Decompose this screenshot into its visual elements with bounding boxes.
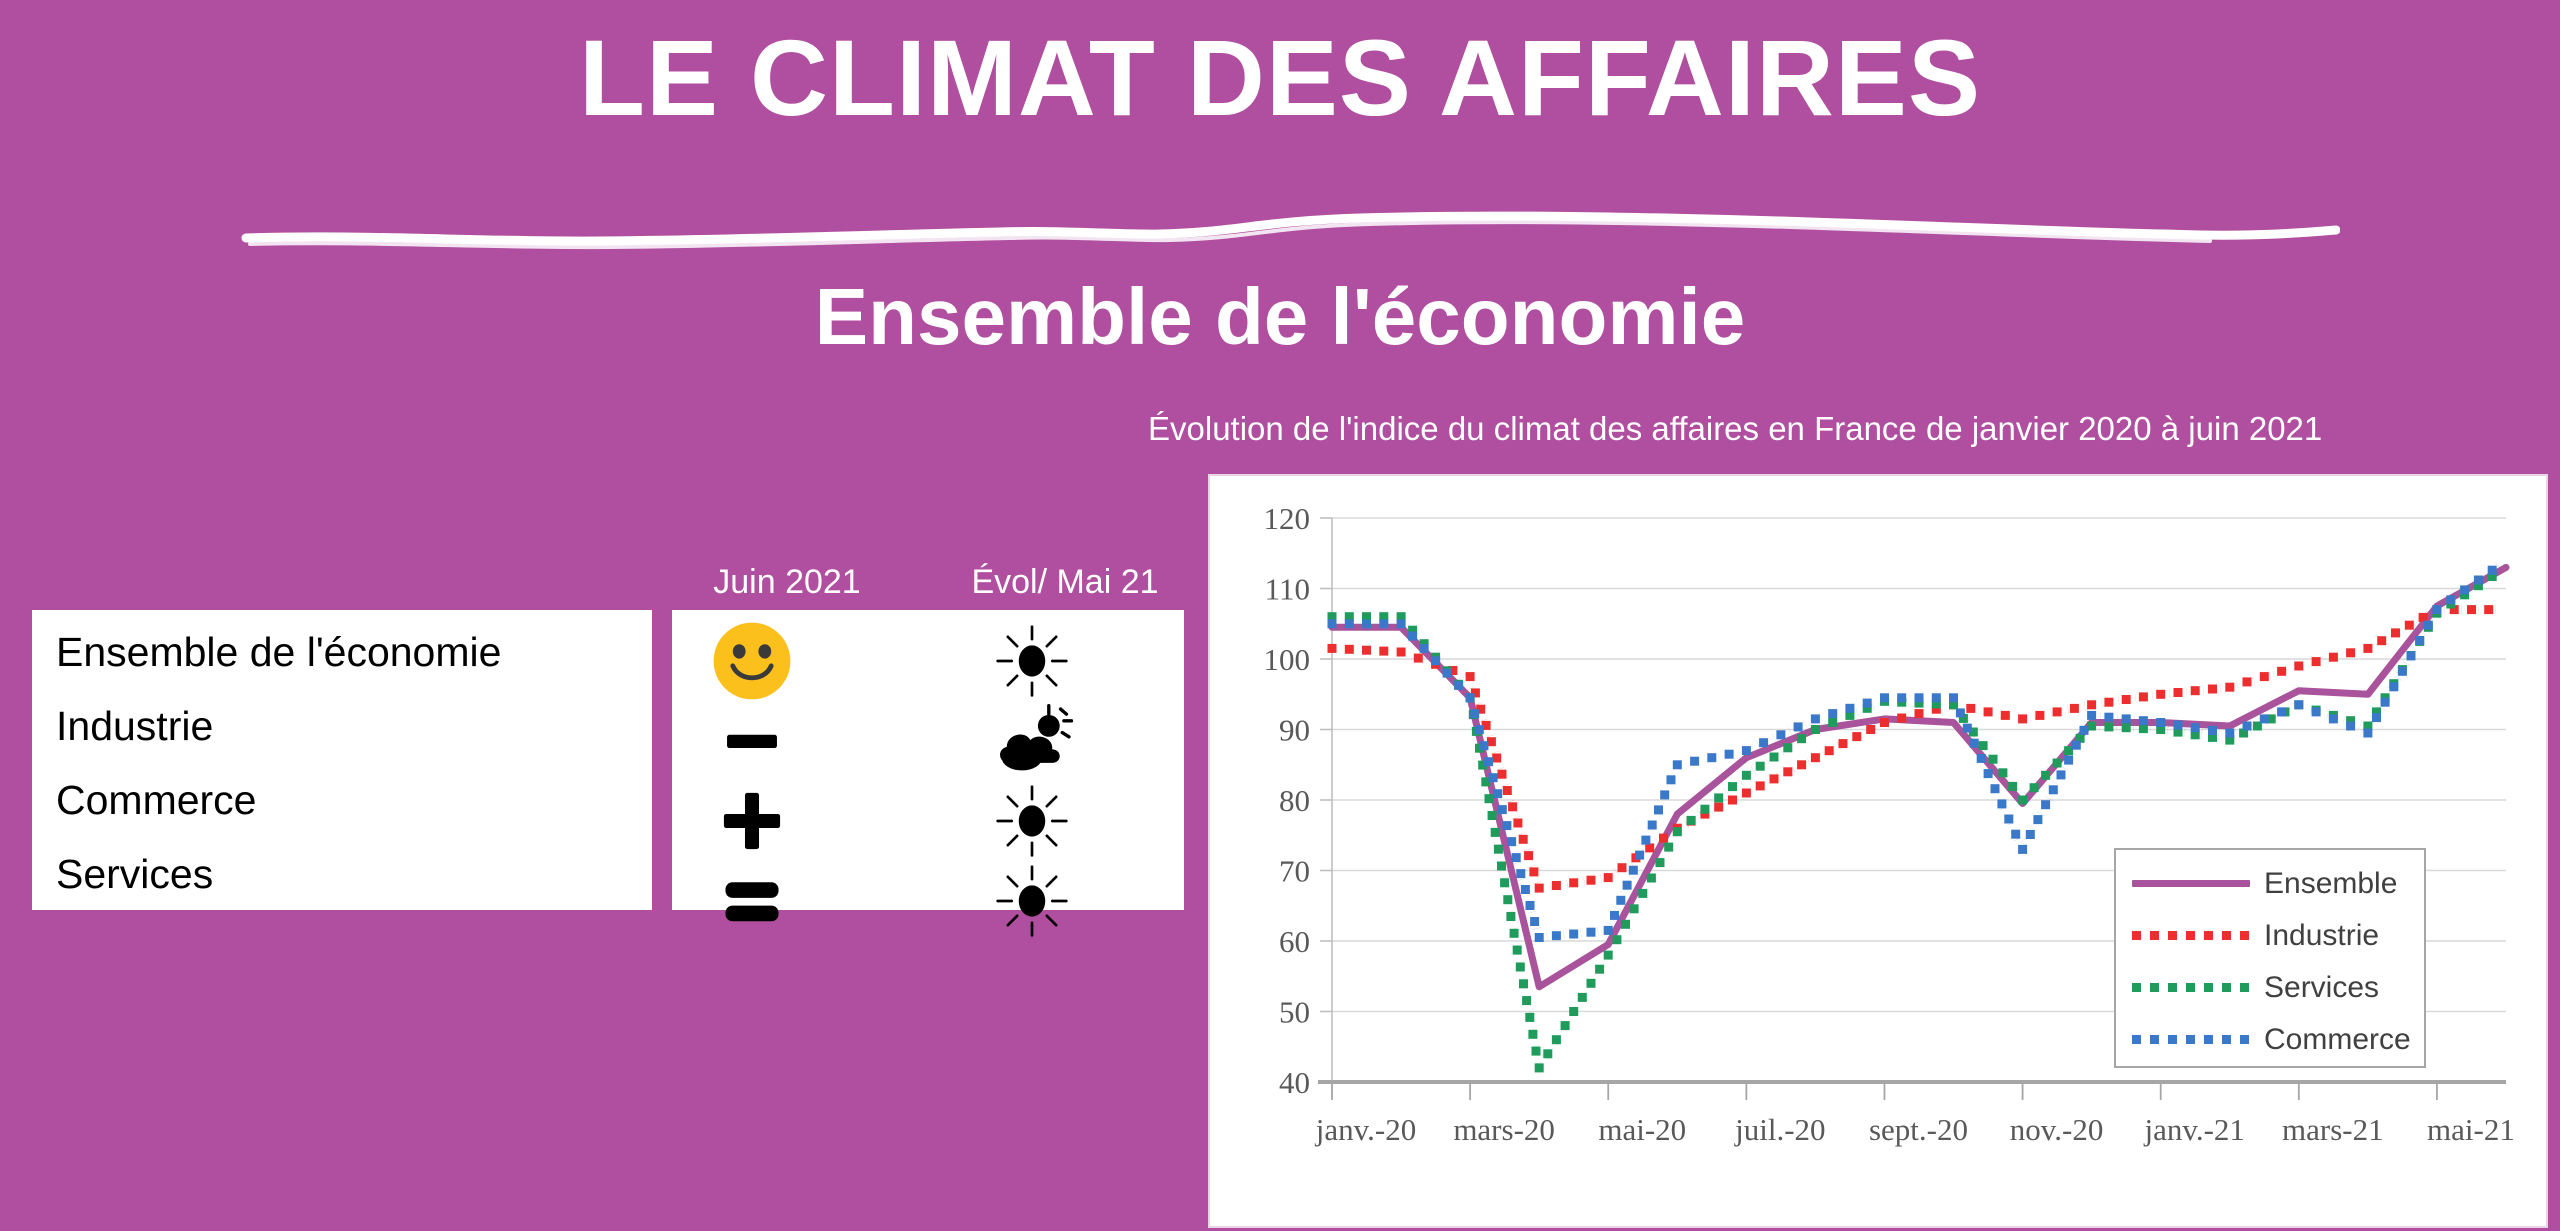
svg-text:juil.-20: juil.-20 (1734, 1112, 1825, 1147)
svg-text:janv.-20: janv.-20 (1315, 1112, 1416, 1147)
svg-text:nov.-20: nov.-20 (2010, 1112, 2104, 1147)
legend-item-ensemble: Ensemble (2116, 856, 2428, 911)
svg-text:90: 90 (1279, 713, 1310, 748)
svg-text:janv.-21: janv.-21 (2143, 1112, 2244, 1147)
page-subtitle: Ensemble de l'économie (0, 262, 2560, 372)
smiley-face-icon (692, 618, 812, 704)
legend-swatch-commerce (2132, 1035, 2250, 1044)
svg-text:mai-20: mai-20 (1598, 1112, 1686, 1147)
minus-icon (692, 698, 812, 784)
sun-behind-cloud-icon (972, 698, 1092, 784)
legend-label: Services (2264, 973, 2379, 1003)
svg-text:100: 100 (1264, 642, 1311, 677)
legend-item-commerce: Commerce (2116, 1012, 2428, 1067)
chart-legend: Ensemble Industrie Services Commerce (2114, 848, 2426, 1068)
legend-label: Industrie (2264, 921, 2379, 951)
table-row-sector-label: Services (56, 854, 636, 894)
svg-text:80: 80 (1279, 783, 1310, 818)
svg-text:mai-21: mai-21 (2427, 1112, 2515, 1147)
indicator-icon-table (672, 610, 1184, 910)
sun-icon (972, 858, 1092, 944)
legend-label: Ensemble (2264, 869, 2397, 899)
title-underline-brushstroke (240, 208, 2340, 254)
legend-swatch-industrie (2132, 931, 2250, 940)
table-row-sector-label: Ensemble de l'économie (56, 632, 636, 672)
column-header-evolution: Évol/ Mai 21 (950, 562, 1180, 602)
table-row-sector-label: Commerce (56, 780, 636, 820)
svg-text:70: 70 (1279, 854, 1310, 889)
svg-text:mars-21: mars-21 (2282, 1112, 2384, 1147)
legend-swatch-ensemble (2132, 880, 2250, 887)
svg-text:mars-20: mars-20 (1453, 1112, 1555, 1147)
svg-text:40: 40 (1279, 1065, 1310, 1100)
svg-text:120: 120 (1264, 501, 1311, 536)
sector-name-table: Ensemble de l'économie Industrie Commerc… (32, 610, 652, 910)
equals-icon (692, 858, 812, 944)
sun-icon (972, 778, 1092, 864)
sun-icon (972, 618, 1092, 704)
legend-label: Commerce (2264, 1025, 2411, 1055)
legend-item-services: Services (2116, 960, 2428, 1015)
svg-text:60: 60 (1279, 924, 1310, 959)
chart-caption: Évolution de l'indice du climat des affa… (1148, 408, 2560, 450)
column-header-juin-2021: Juin 2021 (672, 562, 902, 602)
table-row-sector-label: Industrie (56, 706, 636, 746)
plus-icon (692, 778, 812, 864)
svg-text:110: 110 (1265, 572, 1310, 607)
legend-item-industrie: Industrie (2116, 908, 2428, 963)
header-banner: LE CLIMAT DES AFFAIRES Ensemble de l'éco… (0, 0, 2560, 400)
svg-text:50: 50 (1279, 995, 1310, 1030)
legend-swatch-services (2132, 983, 2250, 992)
svg-text:sept.-20: sept.-20 (1869, 1112, 1968, 1147)
page-title: LE CLIMAT DES AFFAIRES (0, 18, 2560, 138)
